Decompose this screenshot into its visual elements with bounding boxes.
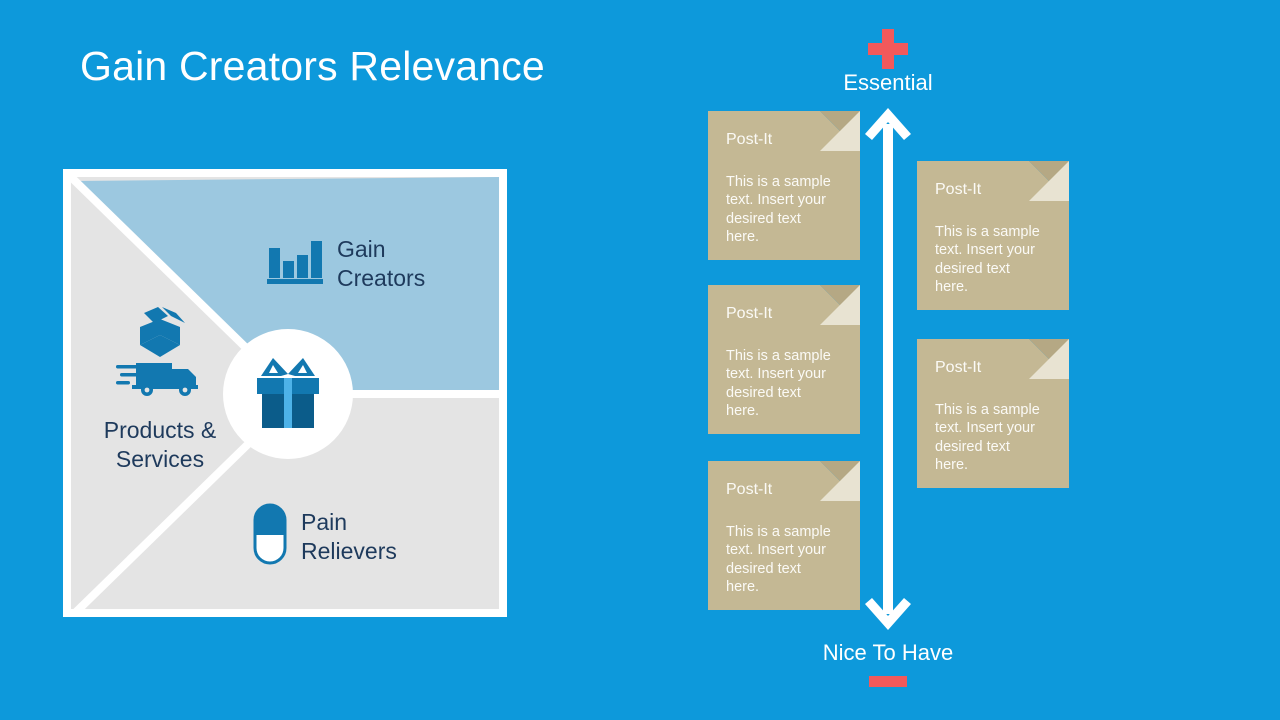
fold-corner-leaf	[820, 461, 860, 501]
postit-title: Post-It	[935, 359, 981, 377]
plus-icon	[868, 29, 908, 69]
quadrant-pain-relievers[interactable]: PainRelievers	[253, 503, 397, 570]
postit-note[interactable]: Post-It This is a sample text. Insert yo…	[708, 285, 860, 434]
postit-body[interactable]: This is a sample text. Insert your desir…	[726, 347, 838, 421]
center-node[interactable]	[223, 329, 353, 459]
fold-corner-leaf	[1029, 339, 1069, 379]
value-proposition-map[interactable]: GainCreators PainRelievers	[63, 169, 507, 617]
postit-title: Post-It	[726, 481, 772, 499]
box-truck-delivery-icon	[114, 305, 206, 402]
page-title: Gain Creators Relevance	[80, 44, 545, 89]
axis-bottom-label: Nice To Have	[748, 640, 1028, 666]
postit-title: Post-It	[726, 305, 772, 323]
postit-body[interactable]: This is a sample text. Insert your desir…	[726, 173, 838, 247]
postit-body[interactable]: This is a sample text. Insert your desir…	[935, 401, 1047, 475]
quadrant-gain-creators-label: GainCreators	[337, 235, 425, 293]
postit-title: Post-It	[935, 181, 981, 199]
double-headed-vertical-arrow-icon	[860, 108, 916, 630]
postit-note[interactable]: Post-It This is a sample text. Insert yo…	[917, 161, 1069, 310]
axis-top-label: Essential	[758, 70, 1018, 96]
postit-body[interactable]: This is a sample text. Insert your desir…	[726, 523, 838, 597]
quadrant-products-services-label: Products &Services	[104, 417, 217, 472]
value-map-canvas: GainCreators PainRelievers	[71, 177, 499, 609]
minus-icon	[869, 676, 907, 687]
fold-corner-leaf	[820, 285, 860, 325]
postit-note[interactable]: Post-It This is a sample text. Insert yo…	[917, 339, 1069, 488]
fold-corner-leaf	[1029, 161, 1069, 201]
gift-box-icon	[247, 352, 329, 437]
quadrant-pain-relievers-label: PainRelievers	[301, 508, 397, 566]
quadrant-gain-creators[interactable]: GainCreators	[267, 235, 425, 293]
postit-note[interactable]: Post-It This is a sample text. Insert yo…	[708, 111, 860, 260]
bar-chart-icon	[267, 236, 323, 291]
postit-body[interactable]: This is a sample text. Insert your desir…	[935, 223, 1047, 297]
pill-capsule-icon	[253, 503, 287, 570]
quadrant-products-services[interactable]: Products &Services	[81, 305, 239, 475]
postit-note[interactable]: Post-It This is a sample text. Insert yo…	[708, 461, 860, 610]
fold-corner-leaf	[820, 111, 860, 151]
postit-title: Post-It	[726, 131, 772, 149]
